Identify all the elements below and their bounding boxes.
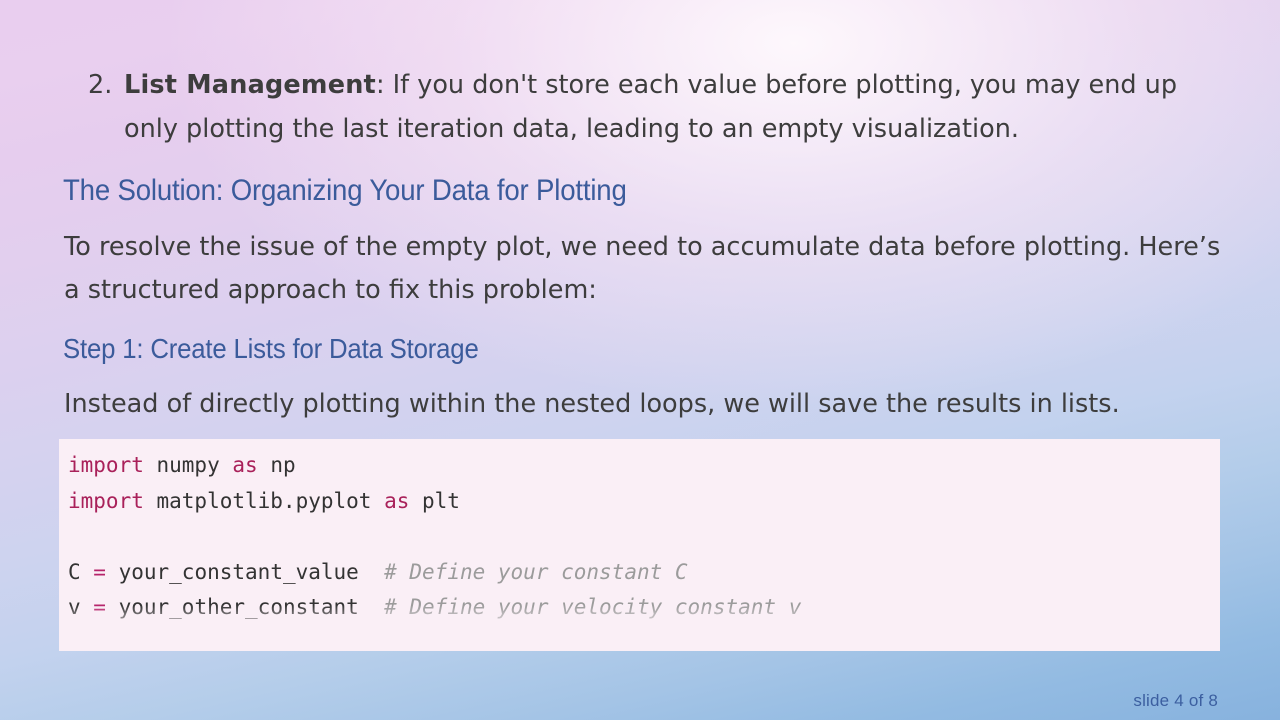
code-line: [68, 519, 1220, 555]
code-line: import matplotlib.pyplot as plt: [68, 484, 1220, 520]
code-token: your_constant_value: [106, 560, 384, 584]
paragraph-resolve: To resolve the issue of the empty plot, …: [64, 226, 1234, 312]
code-token: [68, 524, 81, 548]
code-token: =: [93, 595, 106, 619]
code-token: [68, 631, 81, 652]
list-item: 2. List Management: If you don't store e…: [64, 63, 1224, 151]
slide-canvas: 2. List Management: If you don't store e…: [0, 0, 1280, 720]
list-item-bold-lead: List Management: [124, 70, 376, 100]
slide-counter: slide 4 of 8: [1133, 691, 1218, 711]
code-token: matplotlib.pyplot: [144, 489, 384, 513]
heading-step-1: Step 1: Create Lists for Data Storage: [63, 333, 479, 365]
code-line: [68, 626, 1220, 652]
code-token: plt: [409, 489, 460, 513]
code-token: np: [258, 453, 296, 477]
paragraph-instead: Instead of directly plotting within the …: [64, 383, 1234, 426]
code-token: your_other_constant: [106, 595, 384, 619]
heading-the-solution: The Solution: Organizing Your Data for P…: [63, 174, 627, 208]
code-token: as: [384, 489, 409, 513]
list-item-body: List Management: If you don't store each…: [120, 63, 1224, 151]
code-token: # Define your velocity constant v: [384, 595, 801, 619]
code-token: as: [232, 453, 257, 477]
code-token: # Define your constant C: [384, 560, 687, 584]
code-lines: import numpy as npimport matplotlib.pypl…: [68, 448, 1220, 651]
code-token: import: [68, 453, 144, 477]
code-line: C = your_constant_value # Define your co…: [68, 555, 1220, 591]
code-token: =: [93, 560, 106, 584]
code-token: C: [68, 560, 93, 584]
code-token: import: [68, 489, 144, 513]
code-token: v: [68, 595, 93, 619]
code-line: v = your_other_constant # Define your ve…: [68, 590, 1220, 626]
code-line: import numpy as np: [68, 448, 1220, 484]
paragraph-instead-text: Instead of directly plotting within the …: [64, 389, 1120, 419]
code-token: numpy: [144, 453, 233, 477]
code-block: import numpy as npimport matplotlib.pypl…: [59, 439, 1220, 651]
list-item-marker: 2.: [64, 63, 120, 107]
